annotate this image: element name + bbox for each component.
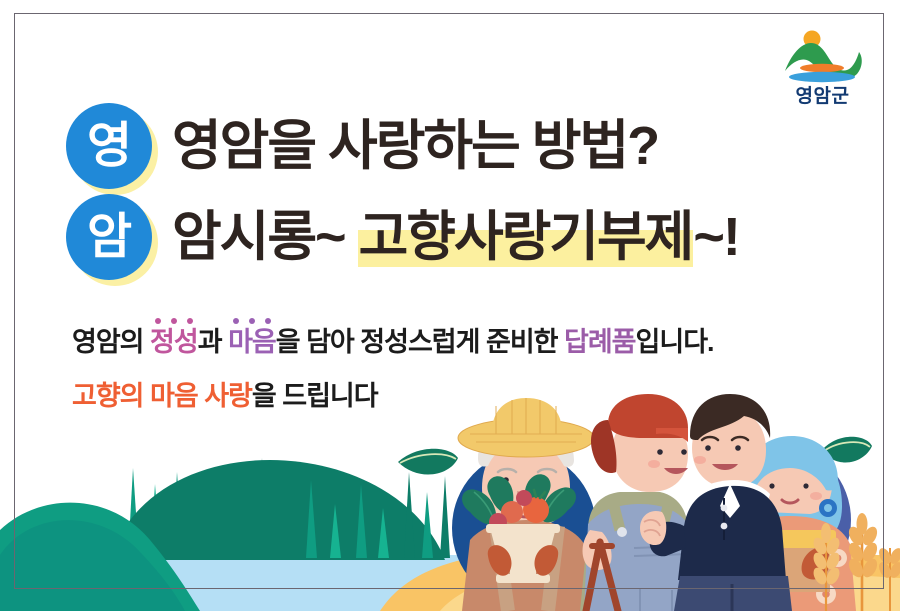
- body-seg-plain: 과: [198, 327, 228, 357]
- body-seg-jeongseong: 정성: [150, 327, 198, 357]
- badge-circle: 암: [66, 194, 152, 280]
- headline-row-1: 영 영암을 사랑하는 방법?: [66, 103, 658, 189]
- promotional-banner: 영암군 영 영암을 사랑하는 방법? 암 암시롱~ 고향사랑기부제~! 영암의 …: [0, 0, 900, 611]
- illustration-scene: [0, 380, 900, 611]
- body-seg-maeum: 마음: [228, 327, 276, 357]
- body-seg-plain: 을 드립니다: [252, 381, 378, 411]
- logo-text: 영암군: [775, 81, 870, 108]
- yeongam-gun-logo: 영암군: [775, 27, 870, 109]
- body-seg-plain: 입니다.: [636, 327, 714, 357]
- logo-mark-icon: [775, 27, 870, 83]
- body-line-2: 고향의 마음 사랑을 드립니다: [72, 374, 378, 413]
- body-seg-plain: 을 담아 정성스럽게 준비한: [276, 327, 564, 357]
- headline-row-2: 암 암시롱~ 고향사랑기부제~!: [66, 194, 739, 280]
- headline-text-1: 영암을 사랑하는 방법?: [172, 118, 658, 175]
- badge-yeong: 영: [66, 103, 152, 189]
- character-young-farmer-with-red-cap: [580, 394, 694, 611]
- badge-am: 암: [66, 194, 152, 280]
- headline-highlighted-phrase: 고향사랑기부제: [358, 207, 694, 267]
- headline-text-2: 암시롱~ 고향사랑기부제~!: [172, 209, 739, 266]
- headline-tail: ~!: [693, 207, 739, 267]
- badge-label: 암: [87, 213, 131, 262]
- badge-label: 영: [87, 122, 131, 171]
- headline-lead: 암시롱~: [172, 207, 358, 267]
- body-seg-dapryepum: 답례품: [564, 327, 636, 357]
- badge-circle: 영: [66, 103, 152, 189]
- character-elderly-farmer-with-straw-hat: [452, 398, 596, 611]
- body-line-1: 영암의 정성과 마음을 담아 정성스럽게 준비한 답례품입니다.: [72, 320, 714, 359]
- body-seg-gohyang: 고향의 마음 사랑: [72, 381, 252, 411]
- body-seg-plain: 영암의: [72, 327, 150, 357]
- hill-dark: [110, 460, 445, 560]
- floating-leaf-left-icon: [398, 449, 458, 475]
